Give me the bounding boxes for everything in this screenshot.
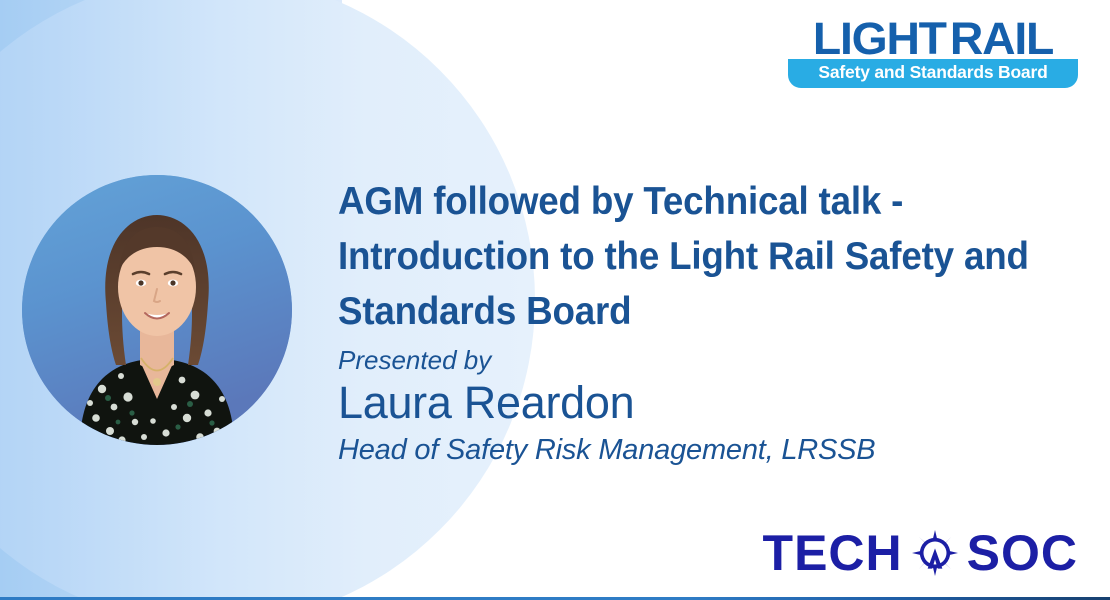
lrssb-word-light: LIGHT bbox=[813, 13, 946, 64]
lrssb-word-rail: RAIL bbox=[950, 13, 1053, 64]
presented-by-label: Presented by bbox=[338, 344, 1078, 376]
speaker-role: Head of Safety Risk Management, LRSSB bbox=[338, 431, 1078, 469]
tech-soc-logo: TECH SOC bbox=[763, 528, 1078, 578]
slide-text-content: AGM followed by Technical talk - Introdu… bbox=[338, 174, 1078, 469]
talk-title: AGM followed by Technical talk - Introdu… bbox=[338, 174, 1045, 339]
speaker-headshot-illustration bbox=[22, 175, 292, 445]
lrssb-tagline: Safety and Standards Board bbox=[818, 62, 1047, 82]
eight-point-star-icon bbox=[912, 530, 958, 576]
tech-soc-word-right: SOC bbox=[967, 528, 1078, 578]
presentation-slide: LIGHTRAIL Safety and Standards Board bbox=[0, 0, 1110, 600]
lrssb-logo: LIGHTRAIL Safety and Standards Board bbox=[788, 16, 1078, 88]
speaker-headshot bbox=[22, 175, 292, 445]
lrssb-wordmark: LIGHTRAIL bbox=[784, 16, 1083, 61]
tech-soc-word-left: TECH bbox=[763, 528, 903, 578]
speaker-name: Laura Reardon bbox=[338, 377, 1078, 429]
